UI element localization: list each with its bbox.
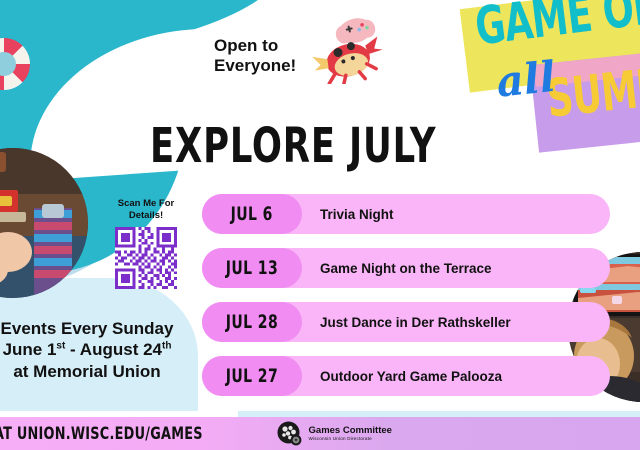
event-date-label: JUL 27 [226, 365, 278, 387]
life-ring-hole [0, 52, 16, 76]
games-committee-logo: Games Committee Wisconsin Union Director… [277, 421, 392, 447]
info-start-date: June 1 [3, 340, 57, 359]
footer-bar: AT UNION.WISC.EDU/GAMES Games Committee … [0, 417, 640, 450]
qr-code-icon[interactable] [115, 227, 177, 289]
qr-label-line-1: Scan Me For [100, 198, 192, 210]
info-line-3: at Memorial Union [0, 361, 210, 382]
games-committee-logo-icon [277, 421, 303, 447]
board-games-photo [0, 148, 88, 298]
info-date-separator: - August 24 [65, 340, 162, 359]
games-committee-text: Games Committee Wisconsin Union Director… [309, 426, 392, 441]
open-to-line-1: Open to [214, 36, 296, 56]
open-to-line-2: Everyone! [214, 56, 296, 76]
event-date-label: JUL 13 [226, 257, 278, 279]
event-row[interactable]: JUL 27 Outdoor Yard Game Palooza [202, 356, 610, 396]
promo-graphic: GAME ON SUMMER all [452, 0, 640, 164]
event-title: Outdoor Yard Game Palooza [302, 369, 502, 384]
footer-url[interactable]: AT UNION.WISC.EDU/GAMES [0, 424, 203, 444]
event-date-chip: JUL 28 [202, 302, 302, 342]
info-line-1: Events Every Sunday [0, 318, 210, 339]
event-title: Just Dance in Der Rathskeller [302, 315, 511, 330]
promo-all-text: all [494, 52, 558, 107]
event-date-label: JUL 28 [226, 311, 278, 333]
qr-label-line-2: Details! [100, 210, 192, 222]
poster-canvas: GAME ON SUMMER all Open to Everyone! [0, 0, 640, 450]
event-series-info: Events Every Sunday June 1st - August 24… [0, 318, 210, 382]
event-date-chip: JUL 27 [202, 356, 302, 396]
event-date-chip: JUL 6 [202, 194, 302, 234]
event-row[interactable]: JUL 6 Trivia Night [202, 194, 610, 234]
qr-section: Scan Me For Details! [100, 198, 192, 294]
life-ring-icon [0, 38, 30, 90]
event-row[interactable]: JUL 13 Game Night on the Terrace [202, 248, 610, 288]
info-end-suffix: th [162, 341, 171, 352]
event-title: Trivia Night [302, 207, 394, 222]
event-row[interactable]: JUL 28 Just Dance in Der Rathskeller [202, 302, 610, 342]
org-name: Games Committee [309, 426, 392, 436]
info-line-2: June 1st - August 24th [0, 339, 210, 360]
page-title: EXPLORE JULY [150, 118, 436, 174]
open-to-everyone-text: Open to Everyone! [214, 36, 296, 76]
sand-shape [0, 0, 141, 72]
qr-label: Scan Me For Details! [100, 198, 192, 222]
event-date-label: JUL 6 [231, 203, 273, 225]
info-start-suffix: st [56, 341, 65, 352]
org-subtitle: Wisconsin Union Directorate [309, 436, 392, 441]
event-date-chip: JUL 13 [202, 248, 302, 288]
event-title: Game Night on the Terrace [302, 261, 492, 276]
event-list: JUL 6 Trivia Night JUL 13 Game Night on … [202, 194, 610, 410]
sea-foam-shape [0, 0, 145, 72]
crab-with-controller-icon [308, 18, 388, 84]
